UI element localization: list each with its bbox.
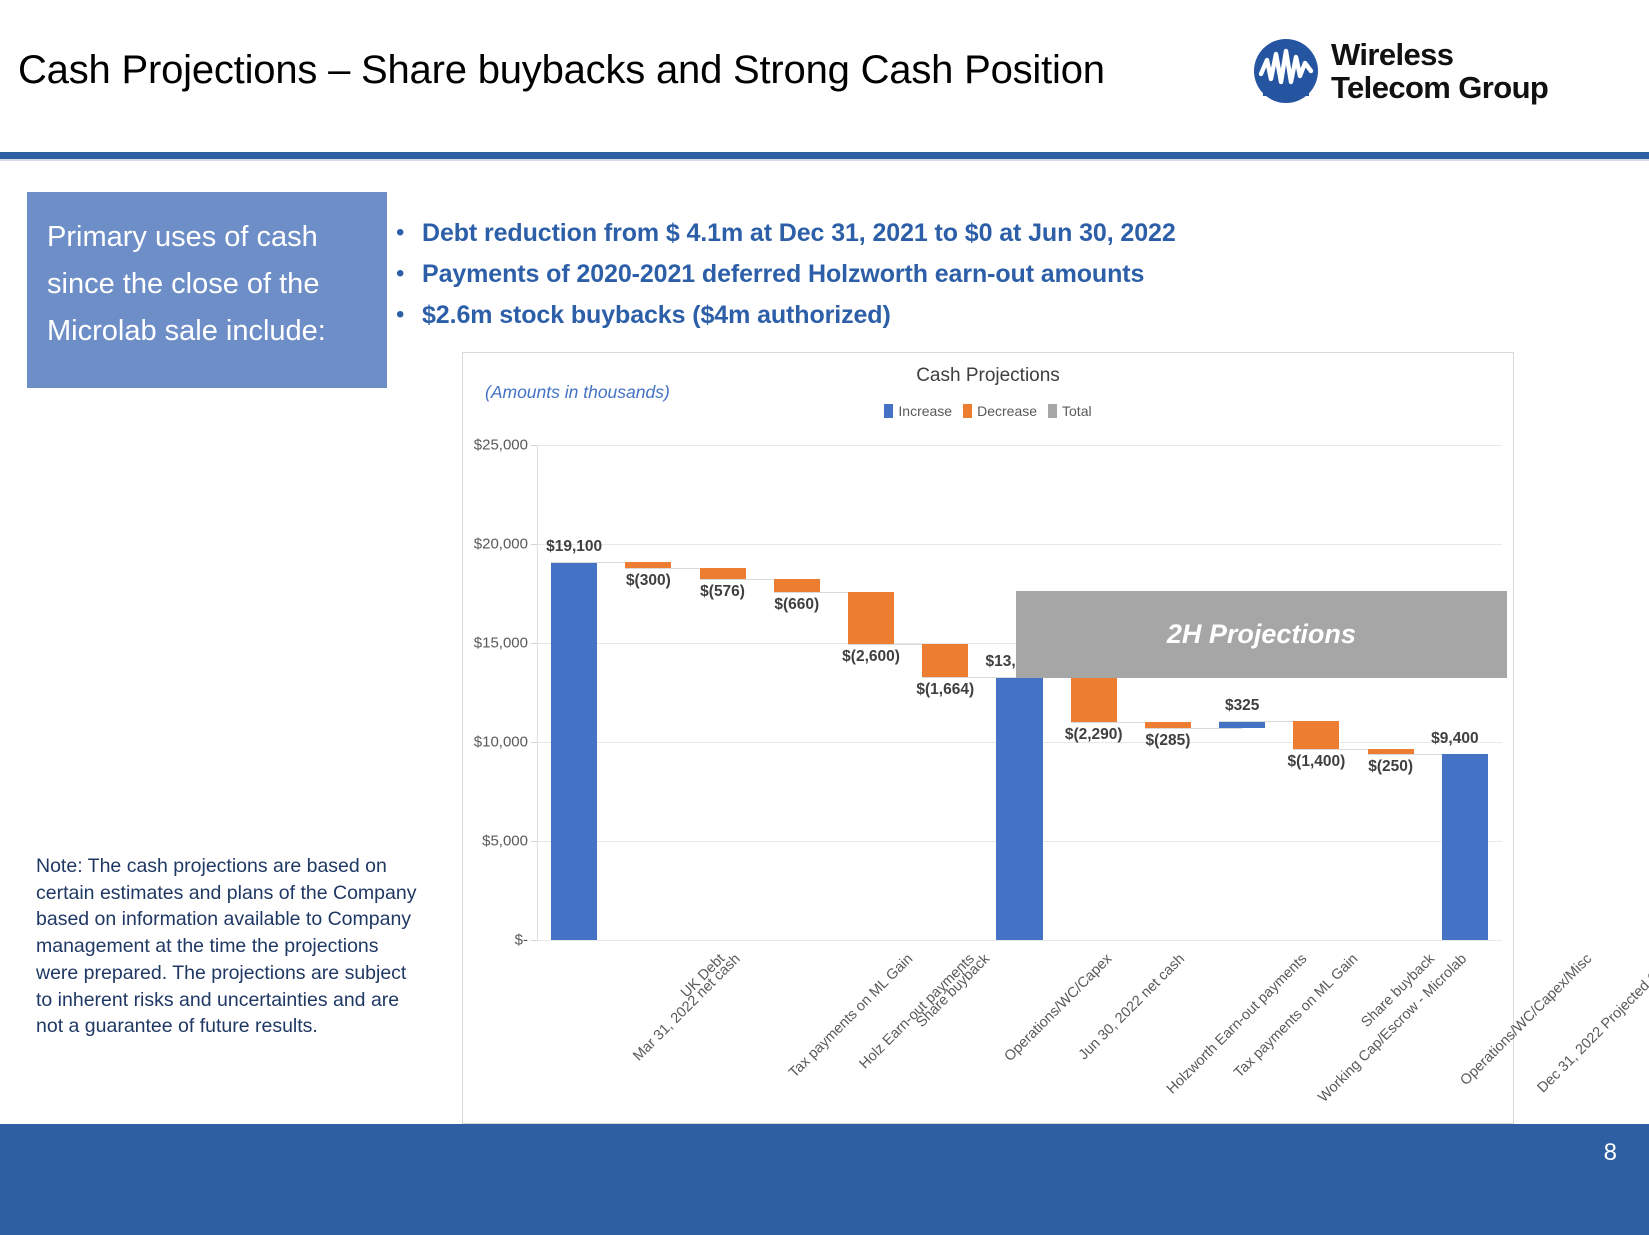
header-divider: [0, 152, 1649, 159]
legend-swatch-total: [1048, 404, 1057, 418]
chart-title: Cash Projections: [463, 365, 1513, 387]
waterfall-connector: [1145, 728, 1242, 729]
legend-item-increase: Increase: [884, 403, 952, 419]
logo-line-2: Telecom Group: [1331, 72, 1548, 103]
y-axis-tick-label: $5,000: [482, 833, 528, 850]
chart-bar: [848, 592, 894, 643]
x-axis-tick-label: Operations/WC/Capex/Misc: [1457, 951, 1595, 1089]
y-axis-tick-label: $25,000: [474, 437, 528, 454]
legend-label-total: Total: [1062, 403, 1092, 419]
chart-data-label: $(1,664): [916, 681, 974, 699]
bullet-marker: •: [396, 300, 422, 330]
chart-bar: [551, 562, 597, 940]
legend-swatch-decrease: [963, 404, 972, 418]
gridline: [537, 940, 1502, 941]
bullet-marker: •: [396, 218, 422, 248]
bullet-text: Payments of 2020-2021 deferred Holzworth…: [422, 259, 1144, 289]
bullet-list: • Debt reduction from $ 4.1m at Dec 31, …: [396, 218, 1446, 341]
callout-box: Primary uses of cash since the close of …: [27, 192, 387, 388]
chart-data-label: $(2,600): [842, 648, 900, 666]
x-axis-tick-label: Dec 31, 2022 Projected Cash: [1534, 951, 1649, 1096]
chart-data-label: $(1,400): [1288, 753, 1346, 771]
chart-data-label: $19,100: [546, 538, 602, 556]
chart-data-label: $(576): [700, 583, 745, 601]
disclaimer-note: Note: The cash projections are based on …: [36, 853, 426, 1040]
footer-bar: [0, 1124, 1649, 1235]
y-axis-tick-mark: [531, 742, 537, 743]
gridline: [537, 445, 1502, 446]
chart-bar: [996, 677, 1042, 940]
y-axis-tick-mark: [531, 940, 537, 941]
chart-data-label: $(285): [1146, 732, 1191, 750]
legend-label-increase: Increase: [898, 403, 952, 419]
x-axis-tick-label: Holz Earn-out payments: [856, 951, 977, 1072]
header-divider-secondary: [0, 159, 1649, 161]
y-axis-tick-label: $15,000: [474, 635, 528, 652]
list-item: • Payments of 2020-2021 deferred Holzwor…: [396, 259, 1446, 289]
gridline: [537, 544, 1502, 545]
chart-bar: [922, 644, 968, 677]
chart-data-label: $(250): [1368, 758, 1413, 776]
chart-data-label: $9,400: [1431, 730, 1478, 748]
company-logo: Wireless Telecom Group: [1253, 38, 1548, 104]
y-axis-tick-label: $20,000: [474, 536, 528, 553]
logo-line-1: Wireless: [1331, 39, 1548, 70]
chart-container: (Amounts in thousands) Cash Projections …: [462, 352, 1514, 1124]
bullet-text: $2.6m stock buybacks ($4m authorized): [422, 300, 891, 330]
bullet-text: Debt reduction from $ 4.1m at Dec 31, 20…: [422, 218, 1176, 248]
wireless-waveform-circle-icon: [1253, 38, 1319, 104]
legend-item-decrease: Decrease: [963, 403, 1037, 419]
y-axis-line: [537, 445, 538, 940]
chart-bar: [700, 568, 746, 579]
chart-plot-area: $-$5,000$10,000$15,000$20,000$25,000$19,…: [537, 445, 1502, 940]
page-title: Cash Projections – Share buybacks and St…: [18, 48, 1105, 93]
chart-bar: [774, 579, 820, 592]
chart-legend: Increase Decrease Total: [463, 403, 1513, 419]
x-axis-tick-label: Mar 31, 2022 net cash: [630, 951, 743, 1064]
y-axis-tick-mark: [531, 544, 537, 545]
chart-bar: [1442, 754, 1488, 940]
x-axis-tick-label: Tax payments on ML Gain: [786, 951, 916, 1081]
legend-swatch-increase: [884, 404, 893, 418]
slide-root: Cash Projections – Share buybacks and St…: [0, 0, 1649, 1235]
bullet-marker: •: [396, 259, 422, 289]
chart-data-label: $(2,290): [1065, 726, 1123, 744]
list-item: • Debt reduction from $ 4.1m at Dec 31, …: [396, 218, 1446, 248]
chart-data-label: $(300): [626, 572, 671, 590]
chart-data-label: $325: [1225, 697, 1259, 715]
y-axis-tick-mark: [531, 841, 537, 842]
chart-bar: [1293, 721, 1339, 749]
y-axis-tick-mark: [531, 445, 537, 446]
projections-banner: 2H Projections: [1016, 591, 1507, 678]
chart-bar: [1071, 677, 1117, 722]
y-axis-tick-label: $10,000: [474, 734, 528, 751]
x-axis-labels: Mar 31, 2022 net cashUK DebtTax payments…: [537, 945, 1502, 1125]
legend-label-decrease: Decrease: [977, 403, 1037, 419]
list-item: • $2.6m stock buybacks ($4m authorized): [396, 300, 1446, 330]
y-axis-tick-label: $-: [515, 932, 528, 949]
y-axis-tick-mark: [531, 643, 537, 644]
legend-item-total: Total: [1048, 403, 1092, 419]
logo-wordmark: Wireless Telecom Group: [1331, 39, 1548, 103]
chart-data-label: $(660): [774, 596, 819, 614]
page-number: 8: [1604, 1139, 1617, 1167]
